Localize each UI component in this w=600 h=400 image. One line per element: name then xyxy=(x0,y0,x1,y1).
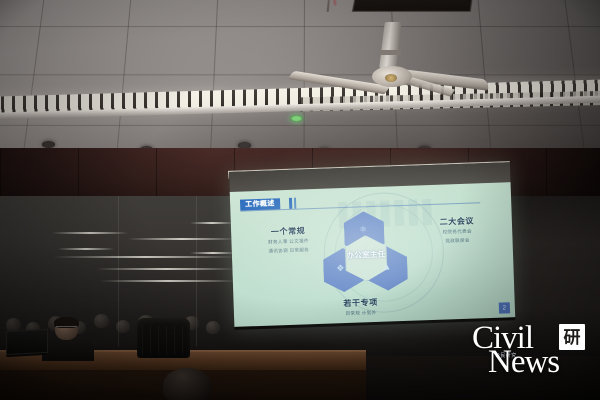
audience-head xyxy=(94,314,109,328)
downlight-icon xyxy=(42,141,55,148)
ceiling-fan xyxy=(352,22,522,100)
watermark-badge: 研 xyxy=(559,324,585,350)
glass-reflection xyxy=(190,222,234,224)
watermark-badge-text: 研 xyxy=(564,329,581,346)
watermark-line-2: News xyxy=(488,346,559,379)
glass-reflection xyxy=(96,268,236,270)
laptop-screen xyxy=(6,329,48,355)
glass-reflection xyxy=(100,280,236,282)
fan-downrod-band xyxy=(380,50,402,55)
glass-reflection xyxy=(58,248,114,250)
ceiling-vent xyxy=(352,0,476,12)
fan-hub-cap xyxy=(385,74,397,82)
office-chair xyxy=(137,318,190,358)
indicator-light-icon xyxy=(290,115,303,122)
glass-reflection xyxy=(128,238,236,240)
eyeglasses-icon xyxy=(56,326,77,331)
person-body xyxy=(42,337,94,361)
fan-downrod xyxy=(379,22,402,68)
conference-room-scene: 工作概述 ⚛ ❖ ▲ 办公室主任 一个常规 财务人事 公文报件 通讯协调 日常服… xyxy=(0,0,600,400)
watermark-logo: Civil 公民研究 News 研 xyxy=(470,322,596,384)
audience-head xyxy=(116,320,130,333)
presentation-slide: 工作概述 ⚛ ❖ ▲ 办公室主任 一个常规 财务人事 公文报件 通讯协调 日常服… xyxy=(230,182,516,327)
glass-reflection xyxy=(54,256,236,258)
foreground-audience-head xyxy=(163,368,211,400)
presenter-person xyxy=(42,318,94,358)
glass-reflection xyxy=(52,232,128,234)
audience-head xyxy=(206,321,220,334)
glass-reflection xyxy=(190,252,236,254)
projection-screen: 工作概述 ⚛ ❖ ▲ 办公室主任 一个常规 财务人事 公文报件 通讯协调 日常服… xyxy=(229,162,515,330)
slide-projector-glow xyxy=(230,182,516,327)
